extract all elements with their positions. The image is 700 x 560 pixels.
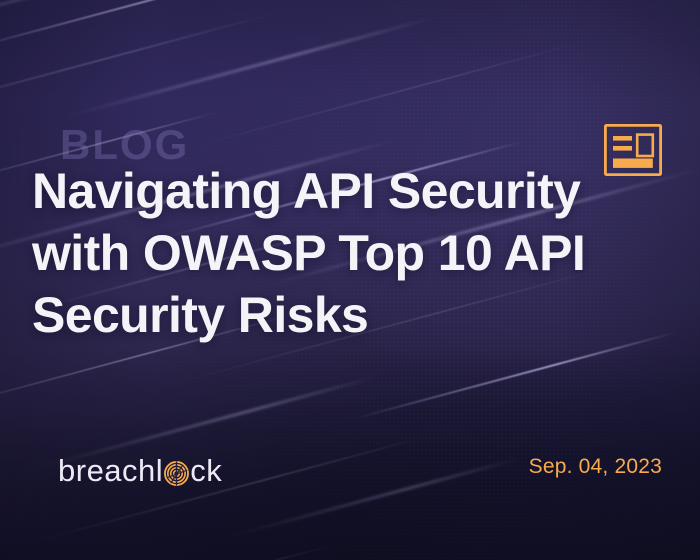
brand-logo-text-start: breachl [58,455,163,486]
brand-logo: breachl ck [58,452,222,488]
publish-date: Sep. 04, 2023 [529,455,662,479]
blog-hero-card: BLOG Navigating API Security with OWASP … [0,0,700,560]
page-title: Navigating API Security with OWASP Top 1… [32,160,632,346]
brand-logo-text-end: ck [190,455,222,486]
fingerprint-icon [164,461,189,486]
blog-article-icon [604,124,662,176]
